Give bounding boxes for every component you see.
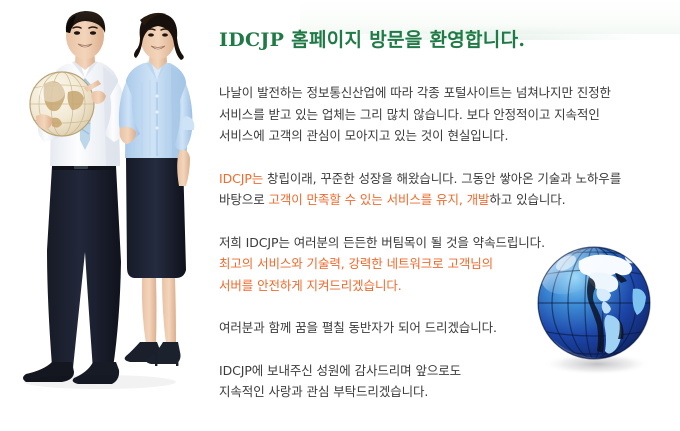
text-line: 서비스를 받고 있는 업체는 그리 많치 않습니다. 보다 안정적이고 지속적인 bbox=[219, 104, 674, 126]
text-line: 서비스에 고객의 관심이 모아지고 있는 것이 현실입니다. bbox=[219, 125, 674, 147]
paragraph-growth: IDCJP는 창립이래, 꾸준한 성장을 해왔습니다. 그동안 쌓아온 기술과 … bbox=[219, 168, 674, 211]
paragraph-intro: 나날이 발전하는 정보통신산업에 따라 각종 포털사이트는 넘쳐나지만 진정한서… bbox=[219, 82, 674, 147]
body-text: 서비스에 고객의 관심이 모아지고 있는 것이 현실입니다. bbox=[219, 128, 508, 143]
text-line: 바탕으로 고객이 만족할 수 있는 서비스를 유지, 개발하고 있습니다. bbox=[219, 189, 674, 211]
body-text: 지속적인 사랑과 관심 부탁드리겠습니다. bbox=[219, 384, 428, 399]
body-text: 여러분과 함께 꿈을 펼칠 동반자가 되어 드리겠습니다. bbox=[219, 320, 497, 335]
body-text: 저희 IDCJP는 여러분의 든든한 버팀목이 될 것을 약속드립니다. bbox=[219, 235, 545, 250]
accent-text: 서버를 안전하게 지켜드리겠습니다. bbox=[219, 278, 402, 293]
body-text: IDCJP에 보내주신 성원에 감사드리며 앞으로도 bbox=[219, 363, 461, 378]
people-photo bbox=[0, 0, 215, 431]
welcome-banner: IDCJP 홈페이지 방문을 환영합니다. 나날이 발전하는 정보통신산업에 따… bbox=[0, 0, 680, 431]
text-line: 나날이 발전하는 정보통신산업에 따라 각종 포털사이트는 넘쳐나지만 진정한 bbox=[219, 82, 674, 104]
body-text: 바탕으로 bbox=[219, 192, 268, 207]
body-text: 서비스를 받고 있는 업체는 그리 많치 않습니다. 보다 안정적이고 지속적인 bbox=[219, 107, 600, 122]
accent-text: IDCJP는 bbox=[219, 171, 263, 186]
accent-text: 최고의 서비스와 기술력, 강력한 네트워크로 고객님의 bbox=[219, 256, 493, 271]
page-title: IDCJP 홈페이지 방문을 환영합니다. bbox=[219, 28, 674, 52]
accent-text: 고객이 만족할 수 있는 서비스를 유지, 개발 bbox=[268, 192, 489, 207]
woman-skirt bbox=[126, 158, 186, 278]
globe-icon bbox=[533, 243, 659, 378]
text-line: 지속적인 사랑과 관심 부탁드리겠습니다. bbox=[219, 381, 674, 403]
body-text: 나날이 발전하는 정보통신산업에 따라 각종 포털사이트는 넘쳐나지만 진정한 bbox=[219, 85, 611, 100]
body-text: 하고 있습니다. bbox=[489, 192, 565, 207]
body-text: 창립이래, 꾸준한 성장을 해왔습니다. 그동안 쌓아온 기술과 노하우를 bbox=[263, 171, 621, 186]
text-line: IDCJP는 창립이래, 꾸준한 성장을 해왔습니다. 그동안 쌓아온 기술과 … bbox=[219, 168, 674, 190]
